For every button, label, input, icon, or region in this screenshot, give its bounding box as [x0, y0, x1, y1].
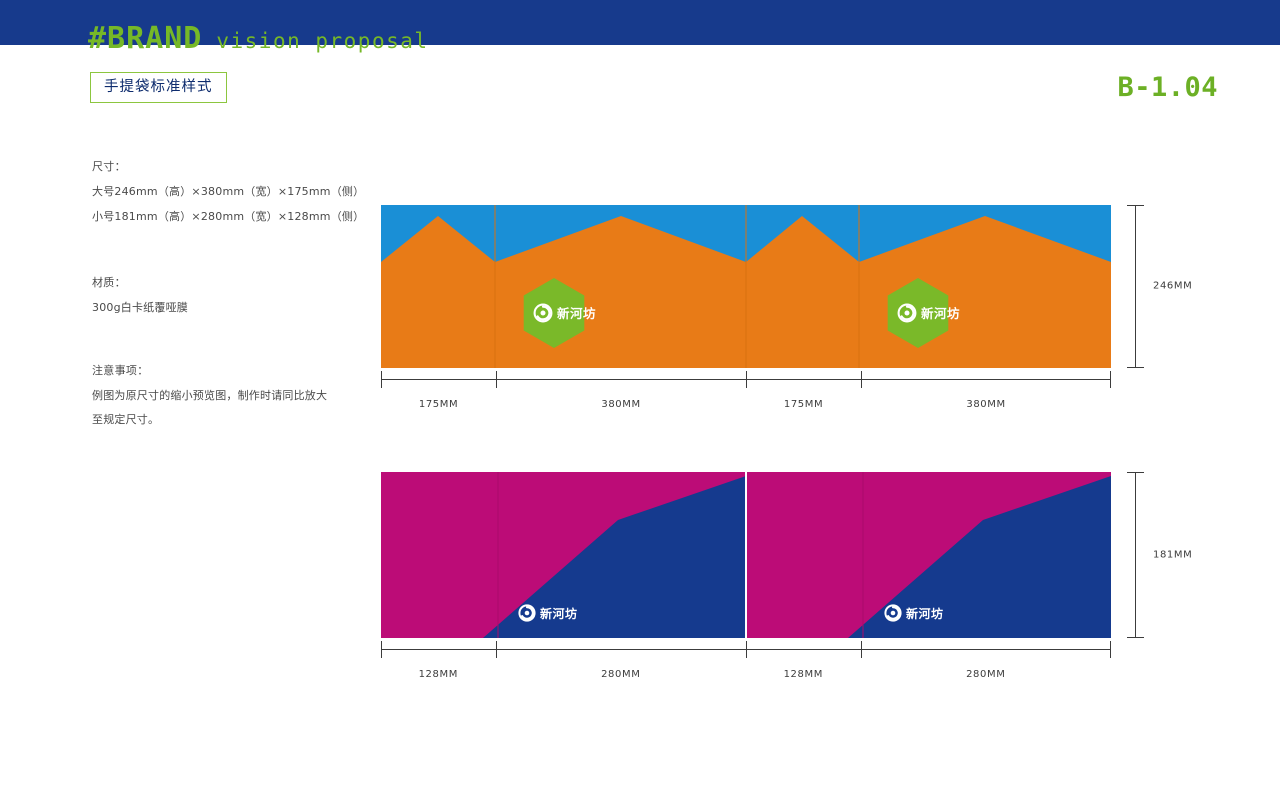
ruler-segment-label: 128MM [784, 669, 823, 680]
small-logo-wordmark-b: 新河坊 [906, 606, 944, 621]
small-logo-wordmark-a: 新河坊 [540, 606, 578, 621]
dim-line-2 [1135, 472, 1136, 638]
small-bag-artwork: 新河坊 新河坊 [381, 472, 1111, 638]
material-group: 材质： 300g白卡纸覆哑膜 [92, 271, 354, 321]
size-heading: 尺寸： [92, 155, 354, 180]
brand-wordmark: #BRAND [88, 24, 202, 54]
ruler-tick [861, 641, 862, 658]
small-logo-a: 新河坊 [519, 605, 577, 621]
ruler-segment-label: 175MM [419, 399, 458, 410]
ruler-segment-label: 380MM [966, 399, 1005, 410]
dim-line-1 [1135, 205, 1136, 368]
size-large-line: 大号246mm（高）×380mm（宽）×175mm（侧） [92, 180, 354, 205]
ruler-segment-label: 280MM [601, 669, 640, 680]
ruler-segment-label: 280MM [966, 669, 1005, 680]
logo-wordmark-a: 新河坊 [557, 306, 596, 321]
logo-wordmark-b: 新河坊 [921, 306, 960, 321]
brand-lockup: #BRAND vision proposal [88, 24, 429, 54]
ruler-segment-label: 380MM [601, 399, 640, 410]
size-group: 尺寸： 大号246mm（高）×380mm（宽）×175mm（侧） 小号181mm… [92, 155, 354, 229]
ruler-segment-label: 175MM [784, 399, 823, 410]
page-code: B-1.04 [1117, 74, 1218, 101]
material-heading: 材质： [92, 271, 354, 296]
material-value: 300g白卡纸覆哑膜 [92, 296, 354, 321]
ruler-tick [381, 371, 382, 388]
ruler-tick [746, 371, 747, 388]
notes-line-1: 例图为原尺寸的缩小预览图，制作时请同比放大 [92, 384, 354, 409]
ruler-tick [496, 371, 497, 388]
section-title-box: 手提袋标准样式 [90, 72, 227, 103]
small-logo-b: 新河坊 [885, 605, 943, 621]
ruler-tick [1110, 641, 1111, 658]
ruler-segment-label: 128MM [419, 669, 458, 680]
dim-cap-bottom-2 [1127, 637, 1144, 638]
brand-subtitle: vision proposal [216, 31, 428, 52]
size-small-line: 小号181mm（高）×280mm（宽）×128mm（侧） [92, 205, 354, 230]
ruler-tick [746, 641, 747, 658]
ruler-tick [1110, 371, 1111, 388]
large-bag-artwork: 新河坊 新河坊 [381, 205, 1111, 368]
height-label-2: 181MM [1153, 550, 1192, 561]
notes-heading: 注意事项： [92, 359, 354, 384]
dim-cap-bottom-1 [1127, 367, 1144, 368]
large-bag-ruler: 175MM380MM175MM380MM [381, 371, 1111, 421]
height-label-1: 246MM [1153, 281, 1192, 292]
ruler-tick [861, 371, 862, 388]
notes-group: 注意事项： 例图为原尺寸的缩小预览图，制作时请同比放大 至规定尺寸。 [92, 359, 354, 433]
page-title: 手提袋标准样式 [104, 79, 213, 95]
ruler-tick [381, 641, 382, 658]
ruler-tick [496, 641, 497, 658]
specification-panel: 尺寸： 大号246mm（高）×380mm（宽）×175mm（侧） 小号181mm… [92, 155, 354, 463]
small-bag-ruler: 128MM280MM128MM280MM [381, 641, 1111, 691]
large-bag-mockup: 新河坊 新河坊 [381, 205, 1111, 368]
small-bag-mockup: 新河坊 新河坊 [381, 472, 1111, 638]
notes-line-2: 至规定尺寸。 [92, 408, 354, 433]
